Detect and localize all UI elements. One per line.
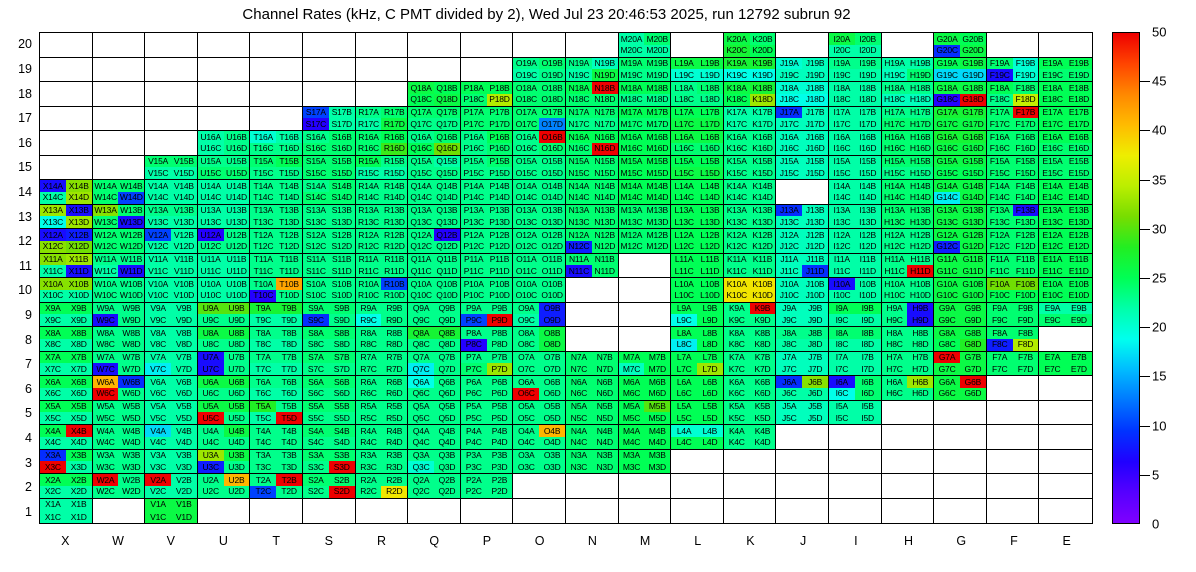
channel-cell-U18C (198, 94, 224, 106)
channel-cell-E3B (1066, 450, 1092, 462)
channel-cell-W10C: W10C (93, 290, 119, 302)
channel-cell-E4A (1039, 425, 1065, 437)
channel-cell-E10A: E10A (1039, 278, 1065, 290)
channel-cell-G11D: G11D (960, 265, 986, 277)
channel-cell-L11B: L11B (697, 254, 723, 266)
channel-cell-E19A: E19A (1039, 58, 1065, 70)
channel-cell-F13B: F13B (1013, 205, 1039, 217)
channel-cell-K9B: K9B (750, 303, 776, 315)
channel-cell-K7A: K7A (724, 352, 750, 364)
channel-cell-O19D: O19D (539, 69, 565, 81)
channel-cell-P11A: P11A (461, 254, 487, 266)
channel-cell-R13D: R13D (381, 216, 407, 228)
channel-cell-S3D: S3D (329, 461, 355, 473)
channel-cell-M1C (619, 511, 645, 523)
heatmap-tile-X15 (40, 156, 93, 181)
channel-cell-T18C (250, 94, 276, 106)
channel-cell-I16D: I16D (855, 143, 881, 155)
channel-cell-X17C (40, 118, 66, 130)
heatmap-tile-U1 (198, 499, 251, 524)
channel-cell-V2A: V2A (145, 474, 171, 486)
channel-cell-G3A (934, 450, 960, 462)
channel-cell-N6B: N6B (592, 376, 618, 388)
channel-cell-S16D: S16D (329, 143, 355, 155)
channel-cell-J15D: J15D (802, 167, 828, 179)
channel-cell-S14D: S14D (329, 192, 355, 204)
channel-cell-K13A: K13A (724, 205, 750, 217)
channel-cell-H7B: H7B (907, 352, 933, 364)
channel-cell-L6B: L6B (697, 376, 723, 388)
channel-cell-L14D: L14D (697, 192, 723, 204)
channel-cell-R4B: R4B (381, 425, 407, 437)
channel-cell-W12C: W12C (93, 241, 119, 253)
channel-cell-S15A: S15A (303, 156, 329, 168)
x-axis-tick-P: P (483, 534, 491, 548)
channel-cell-I16C: I16C (829, 143, 855, 155)
channel-cell-U10D: U10D (224, 290, 250, 302)
channel-cell-G9B: G9B (960, 303, 986, 315)
channel-cell-H8A: H8A (882, 327, 908, 339)
heatmap-tile-U11: U11AU11BU11CU11D (198, 254, 251, 279)
channel-cell-W7A: W7A (93, 352, 119, 364)
channel-cell-E3C (1039, 461, 1065, 473)
channel-cell-P10A: P10A (461, 278, 487, 290)
channel-cell-P6D: P6D (487, 388, 513, 400)
channel-cell-M12D: M12D (644, 241, 670, 253)
heatmap-tile-V3: V3AV3BV3CV3D (145, 450, 198, 475)
heatmap-tile-X8: X8AX8BX8CX8D (40, 327, 93, 352)
heatmap-tile-F18: F18AF18BF18CF18D (987, 82, 1040, 107)
channel-cell-U8D: U8D (224, 339, 250, 351)
channel-cell-X15D (66, 167, 92, 179)
heatmap-tile-W16 (93, 131, 146, 156)
channel-cell-J9D: J9D (802, 314, 828, 326)
channel-cell-X18A (40, 82, 66, 94)
channel-cell-X20D (66, 45, 92, 57)
channel-cell-V4A: V4A (145, 425, 171, 437)
heatmap-tile-Q12: Q12AQ12BQ12CQ12D (408, 229, 461, 254)
channel-cell-U1C (198, 511, 224, 523)
channel-cell-X1D: X1D (66, 511, 92, 523)
channel-cell-H1D (907, 511, 933, 523)
channel-cell-R10A: R10A (356, 278, 382, 290)
channel-cell-R20A (356, 33, 382, 45)
channel-cell-U4D: U4D (224, 437, 250, 449)
channel-cell-V13B: V13B (171, 205, 197, 217)
channel-cell-K3B (750, 450, 776, 462)
channel-cell-G16C: G16C (934, 143, 960, 155)
channel-cell-H9A: H9A (882, 303, 908, 315)
channel-cell-O17D: O17D (539, 118, 565, 130)
heatmap-tile-U9: U9AU9BU9CU9D (198, 303, 251, 328)
y-axis-tick-8: 8 (8, 333, 32, 347)
channel-cell-F11A: F11A (987, 254, 1013, 266)
channel-cell-W17A (93, 107, 119, 119)
channel-cell-M5B: M5B (644, 401, 670, 413)
colorbar-label-50: 50 (1152, 25, 1166, 40)
channel-cell-T16B: T16B (276, 131, 302, 143)
channel-cell-V7B: V7B (171, 352, 197, 364)
y-axis-tick-9: 9 (8, 308, 32, 322)
channel-cell-I12C: I12C (829, 241, 855, 253)
channel-cell-M10C (619, 290, 645, 302)
channel-cell-P20A (461, 33, 487, 45)
heatmap-tile-V15: V15AV15BV15CV15D (145, 156, 198, 181)
heatmap-tile-O14: O14AO14BO14CO14D (513, 180, 566, 205)
channel-cell-J12C: J12C (776, 241, 802, 253)
channel-cell-O13A: O13A (513, 205, 539, 217)
channel-cell-L12C: L12C (671, 241, 697, 253)
channel-cell-E19C: E19C (1039, 69, 1065, 81)
channel-cell-T11B: T11B (276, 254, 302, 266)
channel-cell-R2A: R2A (356, 474, 382, 486)
channel-cell-F19B: F19B (1013, 58, 1039, 70)
channel-cell-N11D: N11D (592, 265, 618, 277)
channel-cell-G11A: G11A (934, 254, 960, 266)
channel-cell-G13B: G13B (960, 205, 986, 217)
heatmap-tile-T20 (250, 33, 303, 58)
channel-cell-V4B: V4B (171, 425, 197, 437)
channel-cell-O13D: O13D (539, 216, 565, 228)
channel-cell-O8D: O8D (539, 339, 565, 351)
channel-cell-L5B: L5B (697, 401, 723, 413)
channel-cell-U8C: U8C (198, 339, 224, 351)
channel-cell-G6B: G6B (960, 376, 986, 388)
channel-cell-O6C: O6C (513, 388, 539, 400)
channel-cell-H7A: H7A (882, 352, 908, 364)
channel-cell-N6D: N6D (592, 388, 618, 400)
channel-cell-L9A: L9A (671, 303, 697, 315)
channel-cell-P3B: P3B (487, 450, 513, 462)
heatmap-tile-R15: R15AR15BR15CR15D (356, 156, 409, 181)
channel-cell-F5D (1013, 412, 1039, 424)
channel-cell-V13C: V13C (145, 216, 171, 228)
channel-cell-V16A (145, 131, 171, 143)
channel-cell-S1A (303, 499, 329, 511)
channel-cell-I11C: I11C (829, 265, 855, 277)
channel-cell-F13C: F13C (987, 216, 1013, 228)
channel-cell-I3C (829, 461, 855, 473)
channel-cell-T4A: T4A (250, 425, 276, 437)
heatmap-tile-U18 (198, 82, 251, 107)
channel-cell-U6C: U6C (198, 388, 224, 400)
channel-cell-K9A: K9A (724, 303, 750, 315)
channel-cell-F10C: F10C (987, 290, 1013, 302)
colorbar-label-5: 5 (1152, 467, 1159, 482)
channel-cell-J15A: J15A (776, 156, 802, 168)
channel-cell-L15D: L15D (697, 167, 723, 179)
channel-cell-F4B (1013, 425, 1039, 437)
heatmap-tile-S9: S9AS9BS9CS9D (303, 303, 356, 328)
channel-cell-U1A (198, 499, 224, 511)
y-axis-tick-2: 2 (8, 480, 32, 494)
channel-cell-F9D: F9D (1013, 314, 1039, 326)
channel-cell-M20D: M20D (644, 45, 670, 57)
channel-cell-F14B: F14B (1013, 180, 1039, 192)
heatmap-tile-X17 (40, 107, 93, 132)
heatmap-tile-H11: H11AH11BH11CH11D (882, 254, 935, 279)
channel-cell-N4D: N4D (592, 437, 618, 449)
channel-cell-Q3C: Q3C (408, 461, 434, 473)
x-axis-tick-U: U (219, 534, 228, 548)
channel-cell-O9C: O9C (513, 314, 539, 326)
heatmap-tile-O2 (513, 474, 566, 499)
heatmap-tile-W7: W7AW7BW7CW7D (93, 352, 146, 377)
channel-cell-L1C (671, 511, 697, 523)
y-axis-tick-19: 19 (8, 62, 32, 76)
channel-cell-J13A: J13A (776, 205, 802, 217)
channel-cell-T15D: T15D (276, 167, 302, 179)
heatmap-tile-V2: V2AV2BV2CV2D (145, 474, 198, 499)
channel-cell-X11D: X11D (66, 265, 92, 277)
heatmap-tile-L15: L15AL15BL15CL15D (671, 156, 724, 181)
heatmap-tile-V5: V5AV5BV5CV5D (145, 401, 198, 426)
channel-cell-J4C (776, 437, 802, 449)
channel-cell-X6A: X6A (40, 376, 66, 388)
channel-cell-T7D: T7D (276, 363, 302, 375)
channel-cell-M3A: M3A (619, 450, 645, 462)
channel-cell-S16B: S16B (329, 131, 355, 143)
channel-cell-U14B: U14B (224, 180, 250, 192)
heatmap-tile-N6: N6AN6BN6CN6D (566, 376, 619, 401)
channel-cell-G10C: G10C (934, 290, 960, 302)
channel-cell-P4D: P4D (487, 437, 513, 449)
channel-cell-K19B: K19B (750, 58, 776, 70)
channel-cell-V3A: V3A (145, 450, 171, 462)
heatmap-tile-Q7: Q7AQ7BQ7CQ7D (408, 352, 461, 377)
channel-cell-L4A: L4A (671, 425, 697, 437)
heatmap-tile-U13: U13AU13BU13CU13D (198, 205, 251, 230)
channel-cell-T7C: T7C (250, 363, 276, 375)
channel-cell-N14A: N14A (566, 180, 592, 192)
heatmap-tile-M12: M12AM12BM12CM12D (619, 229, 672, 254)
channel-cell-I20C: I20C (829, 45, 855, 57)
channel-cell-O7A: O7A (513, 352, 539, 364)
channel-cell-R20C (356, 45, 382, 57)
channel-cell-P11C: P11C (461, 265, 487, 277)
channel-cell-Q14D: Q14D (434, 192, 460, 204)
channel-cell-F15B: F15B (1013, 156, 1039, 168)
channel-cell-G12D: G12D (960, 241, 986, 253)
channel-cell-G17D: G17D (960, 118, 986, 130)
channel-cell-G7A: G7A (934, 352, 960, 364)
channel-cell-J13C: J13C (776, 216, 802, 228)
channel-cell-Q15D: Q15D (434, 167, 460, 179)
channel-cell-T15A: T15A (250, 156, 276, 168)
channel-cell-J13B: J13B (802, 205, 828, 217)
heatmap-tile-O16: O16AO16BO16CO16D (513, 131, 566, 156)
channel-cell-U15A: U15A (198, 156, 224, 168)
channel-cell-U2C: U2C (198, 486, 224, 498)
channel-cell-E20B (1066, 33, 1092, 45)
heatmap-tile-V11: V11AV11BV11CV11D (145, 254, 198, 279)
channel-cell-W2D: W2D (118, 486, 144, 498)
channel-cell-F11D: F11D (1013, 265, 1039, 277)
channel-cell-F16A: F16A (987, 131, 1013, 143)
channel-cell-Q12D: Q12D (434, 241, 460, 253)
heatmap-tile-G11: G11AG11BG11CG11D (934, 254, 987, 279)
heatmap-tile-Q11: Q11AQ11BQ11CQ11D (408, 254, 461, 279)
channel-cell-E8B (1066, 327, 1092, 339)
channel-cell-K8B: K8B (750, 327, 776, 339)
channel-cell-R3C: R3C (356, 461, 382, 473)
channel-cell-P20C (461, 45, 487, 57)
channel-cell-K12A: K12A (724, 229, 750, 241)
channel-cell-V6A: V6A (145, 376, 171, 388)
channel-cell-L15B: L15B (697, 156, 723, 168)
channel-cell-V3D: V3D (171, 461, 197, 473)
heatmap-tile-O20 (513, 33, 566, 58)
channel-cell-N15A: N15A (566, 156, 592, 168)
heatmap-tile-W6: W6AW6BW6CW6D (93, 376, 146, 401)
channel-cell-M17C: M17C (619, 118, 645, 130)
heatmap-tile-O12: O12AO12BO12CO12D (513, 229, 566, 254)
heatmap-tile-G19: G19AG19BG19CG19D (934, 58, 987, 83)
channel-cell-Q16D: Q16D (434, 143, 460, 155)
channel-cell-J14D (802, 192, 828, 204)
channel-cell-X3C: X3C (40, 461, 66, 473)
channel-cell-S6C: S6C (303, 388, 329, 400)
channel-cell-L20D (697, 45, 723, 57)
channel-cell-N15D: N15D (592, 167, 618, 179)
channel-cell-U19C (198, 69, 224, 81)
channel-cell-H18D: H18D (907, 94, 933, 106)
heatmap-tile-K13: K13AK13BK13CK13D (724, 205, 777, 230)
channel-cell-I12B: I12B (855, 229, 881, 241)
channel-cell-M15C: M15C (619, 167, 645, 179)
channel-cell-F13A: F13A (987, 205, 1013, 217)
channel-cell-S19D (329, 69, 355, 81)
heatmap-tile-T17 (250, 107, 303, 132)
channel-cell-N1A (566, 499, 592, 511)
channel-cell-P2D: P2D (487, 486, 513, 498)
channel-cell-J6A: J6A (776, 376, 802, 388)
channel-cell-K10D: K10D (750, 290, 776, 302)
channel-cell-Q11B: Q11B (434, 254, 460, 266)
channel-cell-J4D (802, 437, 828, 449)
heatmap-tile-O7: O7AO7BO7CO7D (513, 352, 566, 377)
channel-cell-J13D: J13D (802, 216, 828, 228)
channel-cell-J7D: J7D (802, 363, 828, 375)
channel-cell-E13A: E13A (1039, 205, 1065, 217)
channel-cell-M7B: M7B (644, 352, 670, 364)
channel-cell-Q13D: Q13D (434, 216, 460, 228)
channel-cell-H13D: H13D (907, 216, 933, 228)
heatmap-tile-F4 (987, 425, 1040, 450)
channel-cell-S18B (329, 82, 355, 94)
heatmap-tile-H1 (882, 499, 935, 524)
channel-cell-S7B: S7B (329, 352, 355, 364)
channel-cell-O6B: O6B (539, 376, 565, 388)
channel-cell-G10B: G10B (960, 278, 986, 290)
channel-cell-V1B: V1B (171, 499, 197, 511)
channel-cell-L17D: L17D (697, 118, 723, 130)
channel-cell-N19C: N19C (566, 69, 592, 81)
channel-cell-U7D: U7D (224, 363, 250, 375)
channel-cell-N7A: N7A (566, 352, 592, 364)
channel-cell-S17A: S17A (303, 107, 329, 119)
channel-cell-P14D: P14D (487, 192, 513, 204)
channel-cell-R11C: R11C (356, 265, 382, 277)
heatmap-tile-Q15: Q15AQ15BQ15CQ15D (408, 156, 461, 181)
channel-cell-F2A (987, 474, 1013, 486)
channel-cell-R8C: R8C (356, 339, 382, 351)
channel-cell-H13B: H13B (907, 205, 933, 217)
channel-cell-Q6D: Q6D (434, 388, 460, 400)
channel-cell-X1B: X1B (66, 499, 92, 511)
channel-cell-T1D (276, 511, 302, 523)
channel-cell-X19A (40, 58, 66, 70)
channel-cell-N5C: N5C (566, 412, 592, 424)
channel-cell-G8D: G8D (960, 339, 986, 351)
channel-cell-K2D (750, 486, 776, 498)
channel-cell-X14D: X14D (66, 192, 92, 204)
channel-cell-N16D: N16D (592, 143, 618, 155)
heatmap-tile-X16 (40, 131, 93, 156)
channel-cell-W8B: W8B (118, 327, 144, 339)
channel-cell-W20A (93, 33, 119, 45)
channel-cell-H8B: H8B (907, 327, 933, 339)
channel-cell-N18C: N18C (566, 94, 592, 106)
channel-cell-X5B: X5B (66, 401, 92, 413)
channel-cell-L6C: L6C (671, 388, 697, 400)
heatmap-tile-T11: T11AT11BT11CT11D (250, 254, 303, 279)
y-axis-tick-4: 4 (8, 431, 32, 445)
heatmap-tile-J8: J8AJ8BJ8CJ8D (776, 327, 829, 352)
channel-cell-S10A: S10A (303, 278, 329, 290)
heatmap-tile-N9 (566, 303, 619, 328)
channel-cell-K11C: K11C (724, 265, 750, 277)
channel-cell-M4B: M4B (644, 425, 670, 437)
channel-cell-J8C: J8C (776, 339, 802, 351)
x-axis-tick-E: E (1062, 534, 1070, 548)
channel-cell-T17B (276, 107, 302, 119)
channel-cell-W16B (118, 131, 144, 143)
channel-cell-I7D: I7D (855, 363, 881, 375)
colorbar-tick-10 (1140, 426, 1150, 427)
heatmap-tile-M13: M13AM13BM13CM13D (619, 205, 672, 230)
channel-cell-O12D: O12D (539, 241, 565, 253)
heatmap-tile-L1 (671, 499, 724, 524)
channel-cell-M16B: M16B (644, 131, 670, 143)
channel-cell-U3D: U3D (224, 461, 250, 473)
channel-cell-X4A: X4A (40, 425, 66, 437)
channel-cell-N2C (566, 486, 592, 498)
channel-cell-K18D: K18D (750, 94, 776, 106)
channel-cell-V12B: V12B (171, 229, 197, 241)
heatmap-tile-N13: N13AN13BN13CN13D (566, 205, 619, 230)
channel-cell-E9C: E9C (1039, 314, 1065, 326)
channel-cell-N1B (592, 499, 618, 511)
channel-cell-F10B: F10B (1013, 278, 1039, 290)
channel-cell-H9D: H9D (907, 314, 933, 326)
channel-cell-O9A: O9A (513, 303, 539, 315)
channel-cell-T9A: T9A (250, 303, 276, 315)
heatmap-tile-R12: R12AR12BR12CR12D (356, 229, 409, 254)
channel-cell-W15A (93, 156, 119, 168)
heatmap-tile-K18: K18AK18BK18CK18D (724, 82, 777, 107)
channel-cell-R18D (381, 94, 407, 106)
channel-cell-X8A: X8A (40, 327, 66, 339)
channel-cell-N17C: N17C (566, 118, 592, 130)
channel-cell-N7B: N7B (592, 352, 618, 364)
channel-cell-N6A: N6A (566, 376, 592, 388)
channel-cell-J10A: J10A (776, 278, 802, 290)
channel-cell-K4B: K4B (750, 425, 776, 437)
channel-cell-O11B: O11B (539, 254, 565, 266)
heatmap-tile-W4: W4AW4BW4CW4D (93, 425, 146, 450)
channel-cell-H10A: H10A (882, 278, 908, 290)
